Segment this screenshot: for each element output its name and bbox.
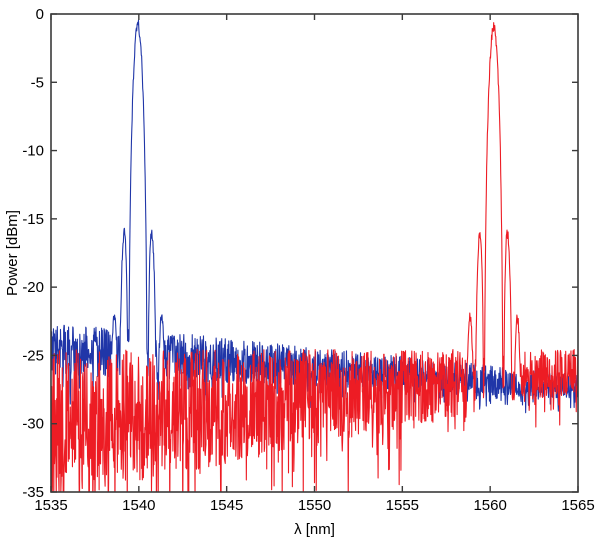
x-axis-title: λ [nm] [294,521,335,538]
y-tick-label: -30 [22,416,44,433]
x-tick-label: 1540 [122,497,155,514]
x-tick-label: 1550 [298,497,331,514]
y-tick-label: -15 [22,211,44,228]
spectrum-plot: 15351540154515501555156015650-5-10-15-20… [0,0,600,540]
y-tick-label: -35 [22,484,44,501]
x-tick-label: 1555 [386,497,419,514]
y-axis-title: Power [dBm] [4,210,21,296]
x-tick-label: 1545 [210,497,243,514]
spectrum-figure: 15351540154515501555156015650-5-10-15-20… [0,0,600,540]
y-tick-label: -10 [22,143,44,160]
y-tick-label: -25 [22,347,44,364]
y-tick-label: -20 [22,279,44,296]
x-tick-label: 1565 [561,497,594,514]
x-tick-label: 1560 [473,497,506,514]
y-tick-label: 0 [36,6,44,23]
y-tick-label: -5 [31,74,44,91]
